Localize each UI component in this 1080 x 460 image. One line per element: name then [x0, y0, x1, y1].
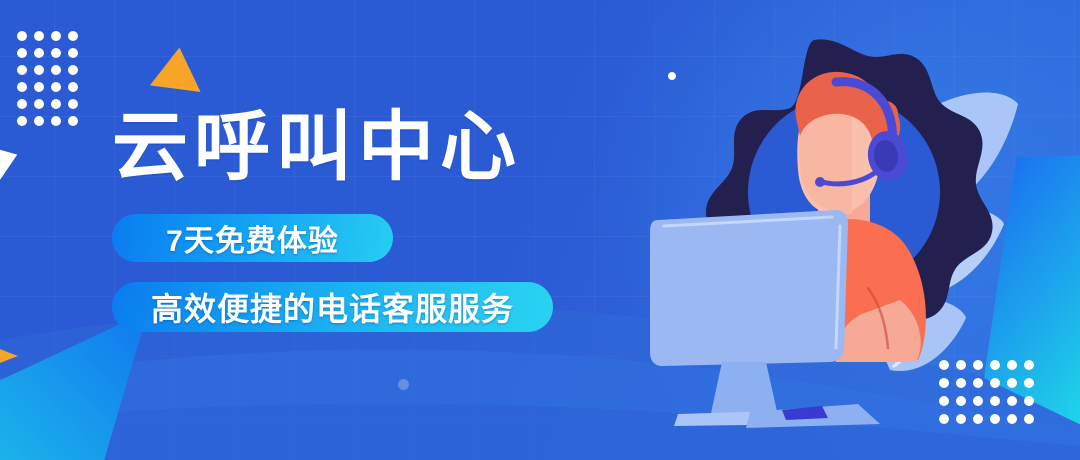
grid-dot: [68, 82, 78, 92]
grid-dot: [51, 99, 61, 109]
page-title: 云呼叫中心: [112, 110, 632, 186]
grid-dot: [34, 48, 44, 58]
grid-dot: [34, 116, 44, 126]
grid-dot: [34, 65, 44, 75]
tag-service-description[interactable]: 高效便捷的电话客服服务: [112, 282, 553, 332]
grid-dot: [17, 31, 27, 41]
grid-dot: [68, 31, 78, 41]
grid-dot: [51, 31, 61, 41]
grid-dot: [17, 99, 27, 109]
grid-dot: [34, 82, 44, 92]
grid-dot: [34, 31, 44, 41]
grid-dot: [17, 65, 27, 75]
grid-dot: [17, 48, 27, 58]
dot-mid-lower: [398, 379, 409, 390]
grid-dot: [68, 48, 78, 58]
grid-dot: [51, 116, 61, 126]
grid-dot: [51, 65, 61, 75]
grid-dot: [68, 65, 78, 75]
cloud-call-center-banner: 云呼叫中心 7天免费体验 高效便捷的电话客服服务: [0, 0, 1080, 460]
dot-grid-top-left: [17, 31, 85, 133]
grid-dot: [34, 99, 44, 109]
grid-dot: [68, 116, 78, 126]
grid-dot: [68, 99, 78, 109]
grid-dot: [17, 116, 27, 126]
customer-service-agent-illustration: [600, 0, 1080, 460]
grid-dot: [51, 48, 61, 58]
grid-dot: [51, 82, 61, 92]
grid-dot: [17, 82, 27, 92]
triangle-orange-left: [0, 343, 18, 369]
copy-block: 云呼叫中心 7天免费体验 高效便捷的电话客服服务: [112, 110, 632, 332]
tag-free-trial[interactable]: 7天免费体验: [112, 214, 393, 262]
